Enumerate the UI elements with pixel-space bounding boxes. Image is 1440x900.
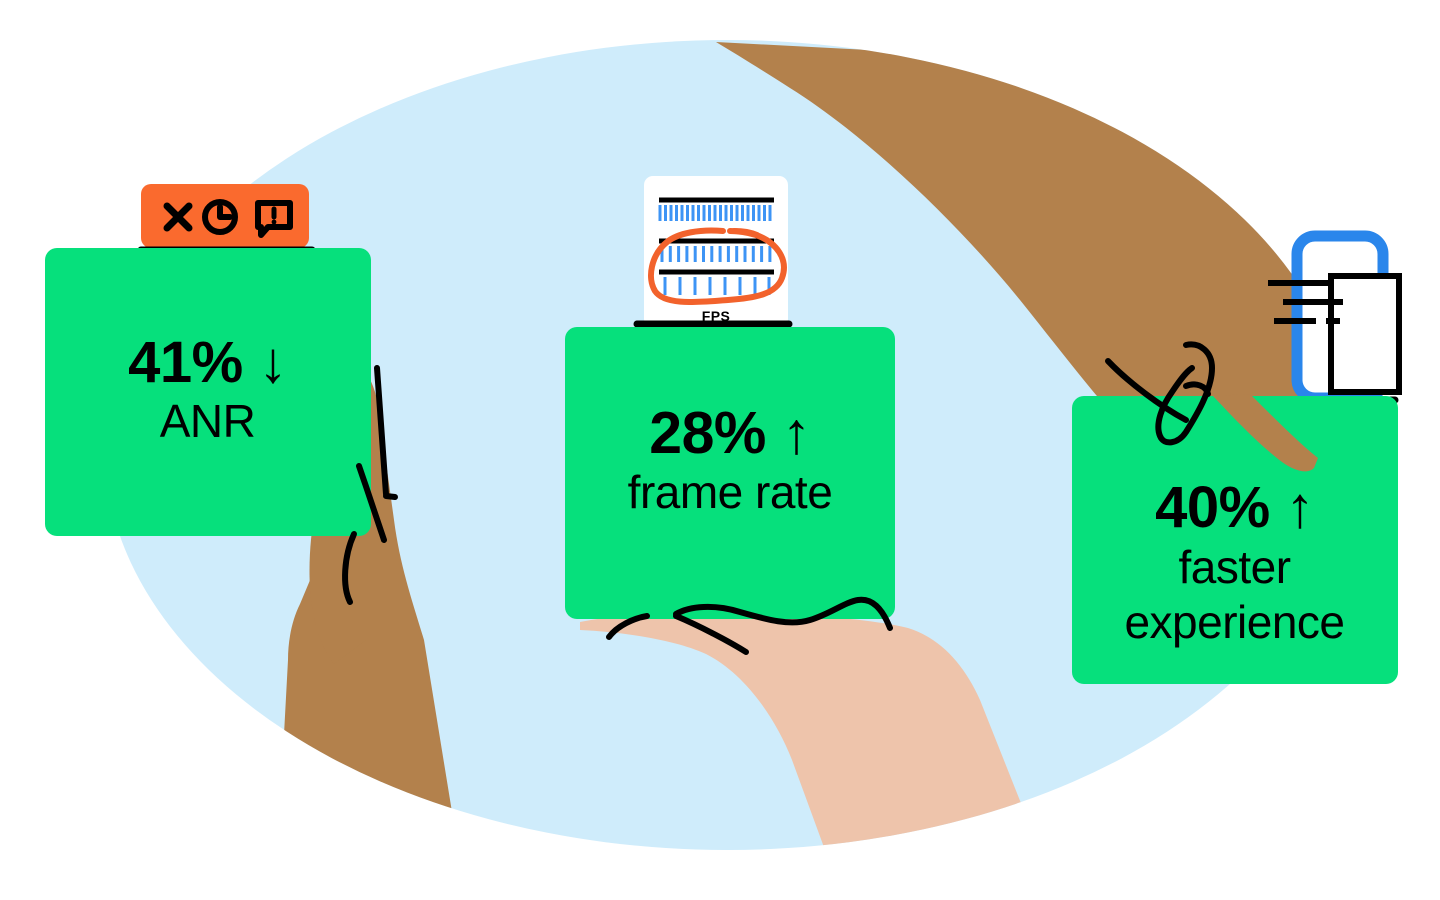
fps-card-caption: FPS [649,308,783,324]
stat-faster-experience-text: 40% ↑ faster experience [1072,478,1397,647]
stat-anr-label: ANR [45,398,370,445]
stat-anr-text: 41% ↓ ANR [45,333,370,445]
stat-frame-rate-label: frame rate [565,469,895,516]
stat-anr-headline: 41% ↓ [45,333,370,392]
stat-frame-rate-headline: 28% ↑ [565,403,895,463]
error-badge [141,184,312,250]
phone-screen-rect [1331,276,1399,392]
fps-row-ticks-1 [660,205,770,221]
stat-faster-experience-label-line-2: experience [1072,598,1397,647]
stat-frame-rate-text: 28% ↑ frame rate [565,403,895,516]
illustration-canvas: 41% ↓ ANR 28% ↑ frame rate 40% ↑ faster … [0,0,1440,900]
fps-chart-card [637,176,789,328]
stat-faster-experience-headline: 40% ↑ [1072,478,1397,537]
stat-faster-experience-label-line-1: faster [1072,543,1397,592]
